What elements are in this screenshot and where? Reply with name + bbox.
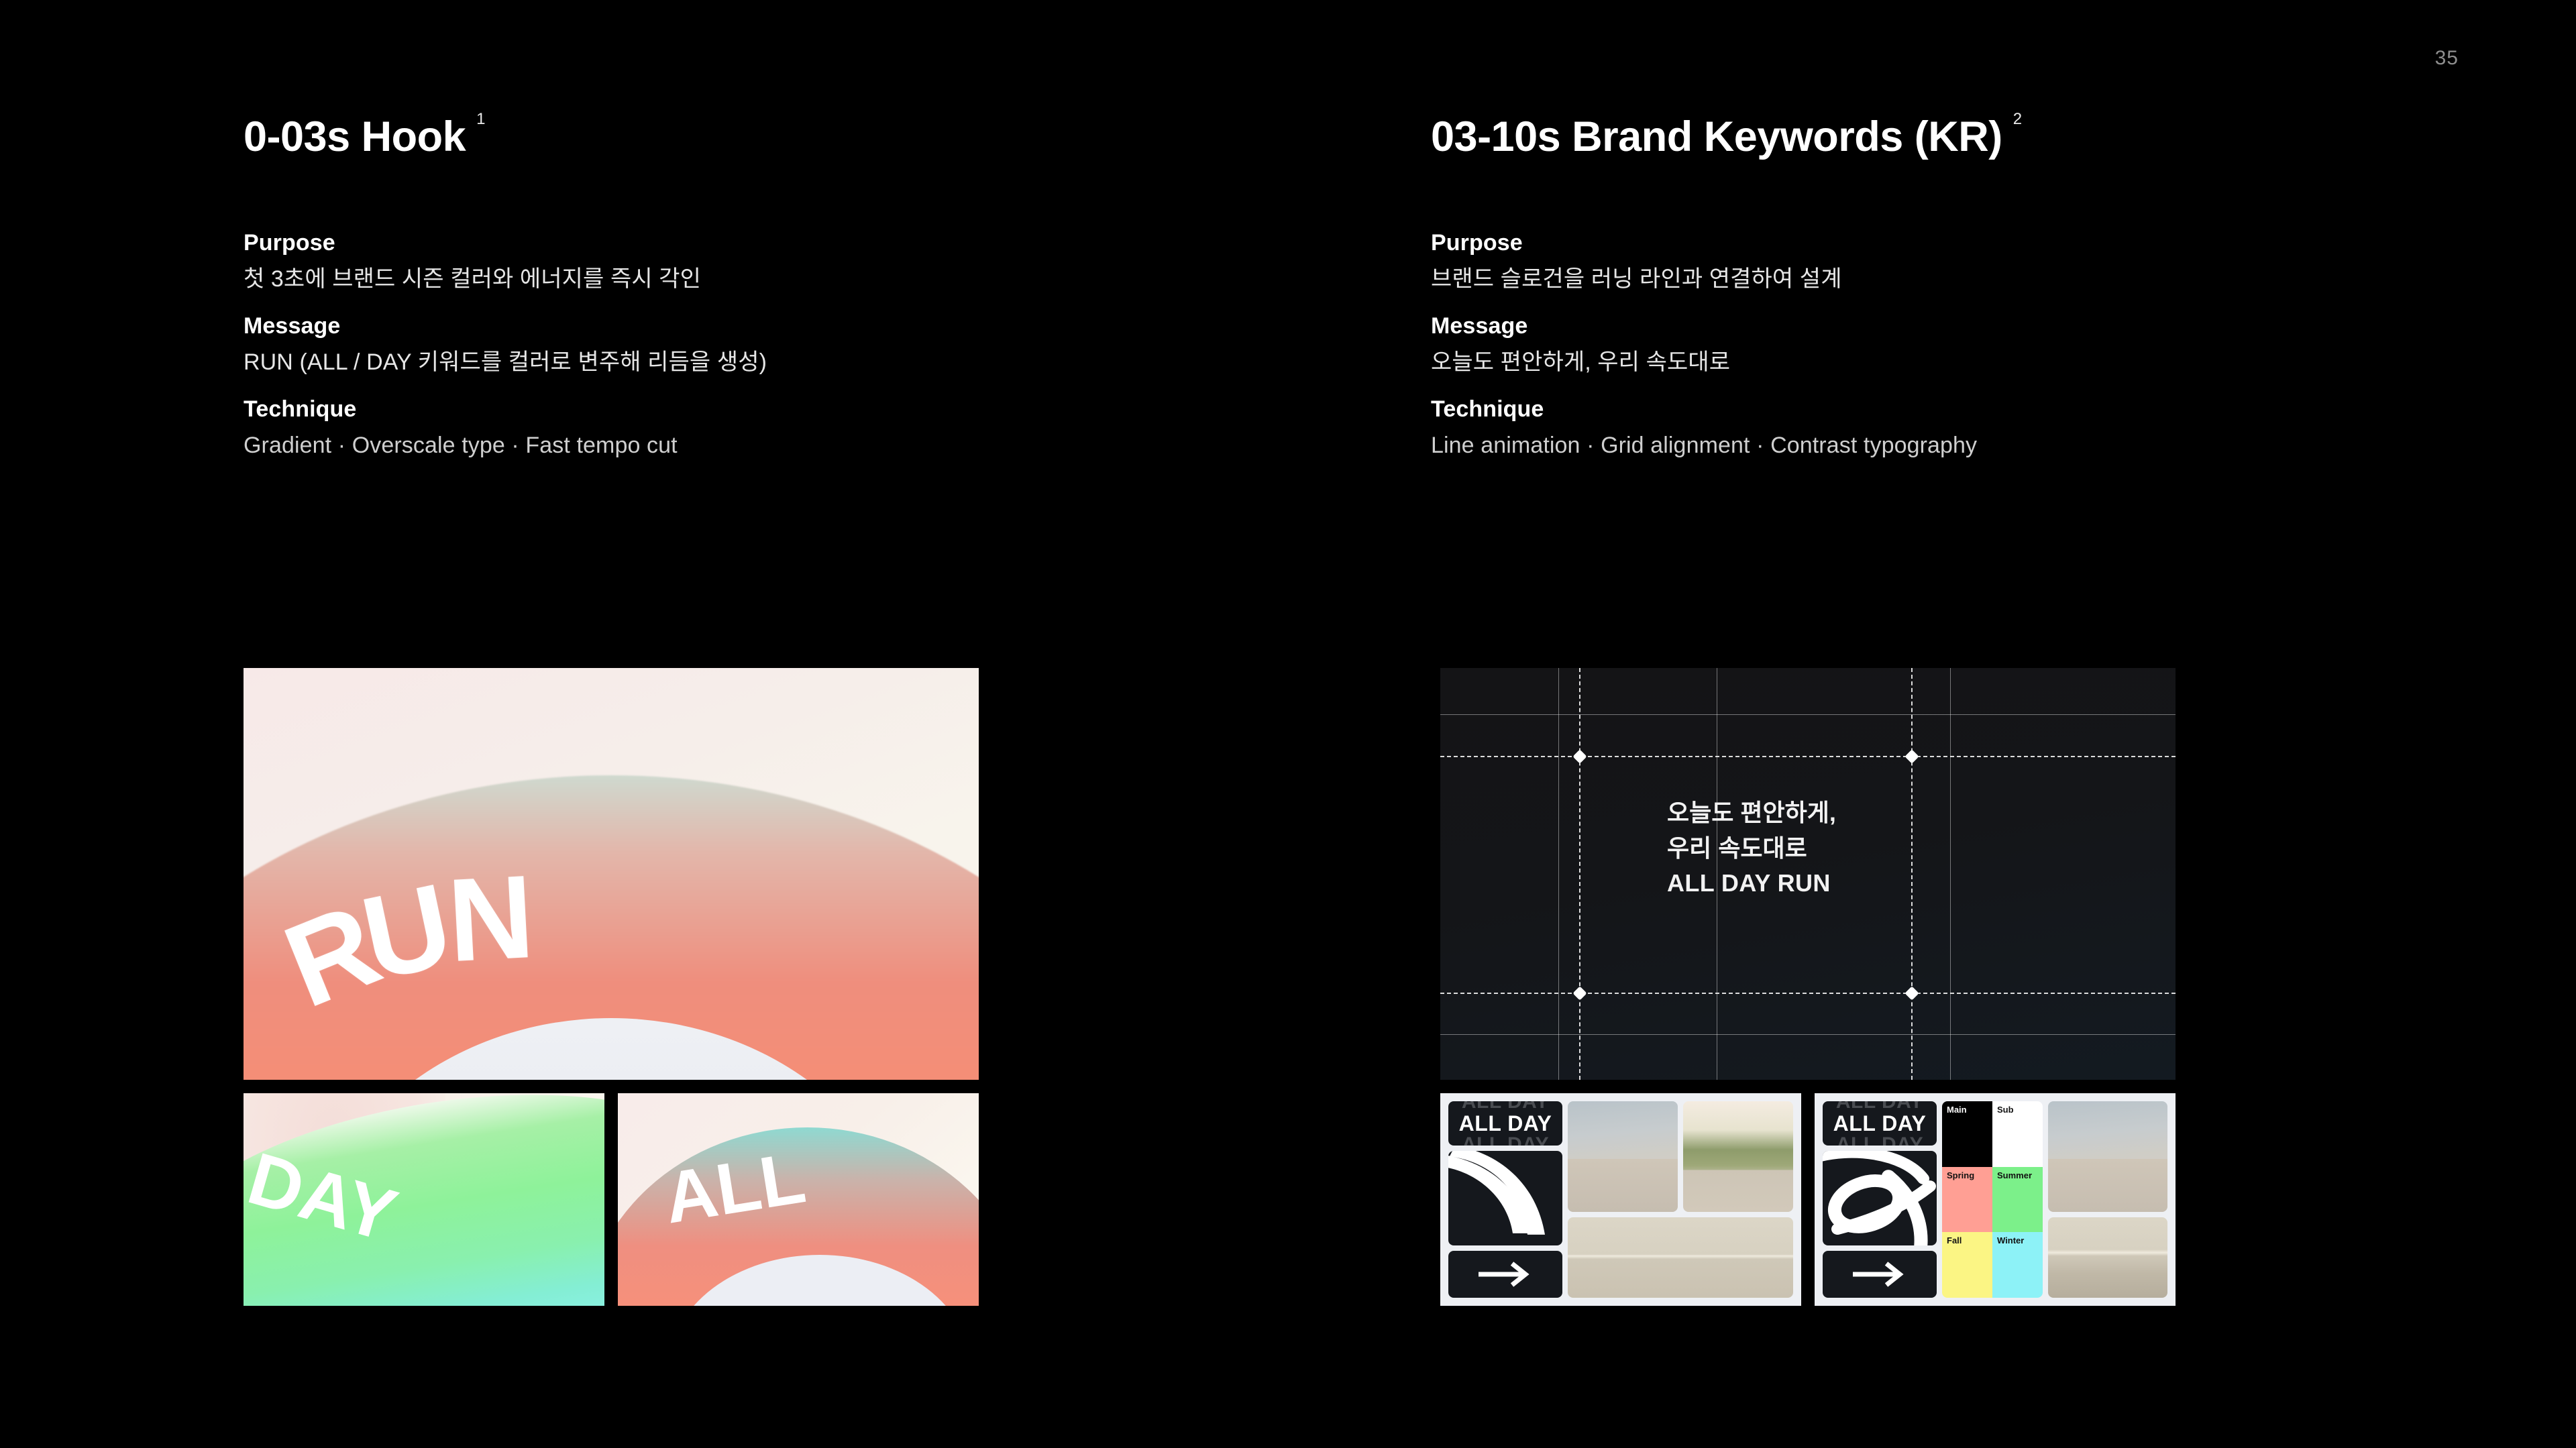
grid-line-horizontal-solid-top (1440, 714, 2176, 715)
grid-guide-vertical-left (1579, 668, 1580, 1080)
swatch-main: Main (1942, 1101, 1992, 1167)
moodboard-palette-variant-b: ALL DAY ALL DAY ALL DAY (1815, 1093, 2176, 1306)
moodboard-a-arrow-tile (1448, 1251, 1562, 1298)
thumbnail-all: ALL (618, 1093, 979, 1306)
moodboard-b-photo-stack (2048, 1101, 2167, 1298)
swatch-spring: Spring (1942, 1167, 1992, 1233)
moodboard-logo-variant-a: ALL DAY ALL DAY ALL DAY (1440, 1093, 1801, 1306)
grid-slogan-line-2: 우리 속도대로 (1667, 831, 1836, 867)
hero-gradient-run: RUN (244, 668, 979, 1080)
message-label-right: Message (1431, 315, 2182, 337)
arrow-right-icon (1476, 1261, 1535, 1288)
purpose-value-left: 첫 3초에 브랜드 시즌 컬러와 에너지를 즉시 각인 (244, 268, 995, 290)
section-title-left-superscript: 1 (476, 110, 485, 128)
swatch-summer-label: Summer (1997, 1170, 2032, 1180)
season-color-palette: Main Sub Spring Summer Fall Winter (1942, 1101, 2043, 1298)
swatch-spring-label: Spring (1947, 1170, 1974, 1180)
grid-node-bottom-left (1572, 986, 1587, 1000)
grid-guide-vertical-right (1911, 668, 1913, 1080)
moodboard-a-swoosh-tile (1448, 1151, 1562, 1245)
moodboard-b-left-stack: ALL DAY ALL DAY ALL DAY (1823, 1101, 1937, 1298)
grid-node-bottom-right (1904, 986, 1919, 1000)
thumbnail-day: DAY (244, 1093, 604, 1306)
photo-road-shadow-b (2048, 1217, 2167, 1298)
photo-runners-park-a (1683, 1101, 1793, 1212)
grid-line-vertical-solid-right (1950, 668, 1951, 1080)
message-value-right: 오늘도 편안하게, 우리 속도대로 (1431, 351, 2182, 374)
grid-slogan-line-3: ALL DAY RUN (1667, 866, 1836, 901)
grid-slogan-block: 오늘도 편안하게, 우리 속도대로 ALL DAY RUN (1667, 795, 1836, 901)
message-value-left: RUN (ALL / DAY 키워드를 컬러로 변주해 리듬을 생성) (244, 351, 995, 374)
moodboard-row: ALL DAY ALL DAY ALL DAY (1440, 1093, 2176, 1306)
swatch-fall-label: Fall (1947, 1235, 1962, 1245)
moodboard-b-ribbon-tile (1823, 1151, 1937, 1245)
grid-line-vertical-solid-left (1558, 668, 1559, 1080)
moodboard-a-wordmark-tile: ALL DAY ALL DAY ALL DAY (1448, 1101, 1562, 1146)
swatch-fall: Fall (1942, 1232, 1992, 1298)
grid-slogan-line-1: 오늘도 편안하게, (1667, 795, 1836, 831)
purpose-label-left: Purpose (244, 231, 995, 254)
photo-road-texture-a (1568, 1217, 1793, 1298)
technique-label-left: Technique (244, 398, 995, 421)
hero-wordmark: RUN (278, 869, 534, 987)
swatch-sub-label: Sub (1997, 1105, 2014, 1115)
swatch-sub: Sub (1992, 1101, 2043, 1167)
ribbon-loop-icon (1823, 1151, 1937, 1245)
swatch-winter: Winter (1992, 1232, 2043, 1298)
grid-node-top-left (1572, 749, 1587, 763)
moodboard-a-photo-row (1568, 1101, 1793, 1212)
moodboard-b-wordmark-tile: ALL DAY ALL DAY ALL DAY (1823, 1101, 1937, 1146)
section-meta-right: Purpose 브랜드 슬로건을 러닝 라인과 연결하여 설계 Message … (1431, 231, 2182, 457)
section-title-right: 03-10s Brand Keywords (KR)2 (1431, 113, 2022, 161)
section-meta-left: Purpose 첫 3초에 브랜드 시즌 컬러와 에너지를 즉시 각인 Mess… (244, 231, 995, 457)
moodboard-b-wordmark-main: ALL DAY (1833, 1111, 1927, 1136)
technique-value-left: Gradient · Overscale type · Fast tempo c… (244, 434, 995, 457)
section-title-left: 0-03s Hook1 (244, 113, 485, 161)
technique-label-right: Technique (1431, 398, 2182, 421)
moodboard-b-arrow-tile (1823, 1251, 1937, 1298)
swoosh-icon (1448, 1151, 1562, 1245)
grid-layout-preview: 오늘도 편안하게, 우리 속도대로 ALL DAY RUN (1440, 668, 2176, 1080)
technique-value-right: Line animation · Grid alignment · Contra… (1431, 434, 2182, 457)
grid-guide-horizontal-top (1440, 756, 2176, 757)
photo-runners-city-a (1568, 1101, 1678, 1212)
swatch-winter-label: Winter (1997, 1235, 2024, 1245)
section-title-right-superscript: 2 (2013, 110, 2022, 128)
photo-runners-bridge-b (2048, 1101, 2167, 1212)
section-title-left-text: 0-03s Hook (244, 113, 466, 160)
left-thumbnail-row: DAY ALL (244, 1093, 979, 1306)
purpose-label-right: Purpose (1431, 231, 2182, 254)
moodboard-a-wordmark-main: ALL DAY (1459, 1111, 1552, 1136)
grid-line-horizontal-solid-bottom (1440, 1034, 2176, 1035)
page-number: 35 (2435, 47, 2459, 70)
moodboard-a-photo-stack (1568, 1101, 1793, 1298)
grid-node-top-right (1904, 749, 1919, 763)
message-label-left: Message (244, 315, 995, 337)
section-title-right-text: 03-10s Brand Keywords (KR) (1431, 113, 2002, 160)
swatch-summer: Summer (1992, 1167, 2043, 1233)
arrow-right-icon (1850, 1261, 1909, 1288)
moodboard-a-left-stack: ALL DAY ALL DAY ALL DAY (1448, 1101, 1562, 1298)
swatch-main-label: Main (1947, 1105, 1967, 1115)
purpose-value-right: 브랜드 슬로건을 러닝 라인과 연결하여 설계 (1431, 268, 2182, 290)
grid-guide-horizontal-bottom (1440, 993, 2176, 994)
